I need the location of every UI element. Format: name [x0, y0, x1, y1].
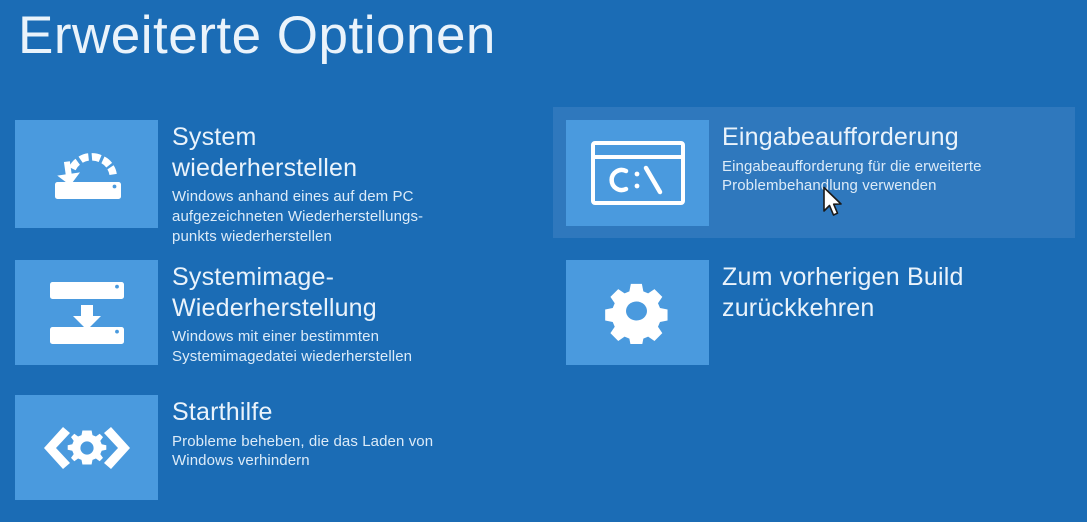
option-startup-repair-description: Probleme beheben, die das Laden von Wind… [172, 432, 535, 472]
option-startup-repair-text: Starthilfe Probleme beheben, die das Lad… [172, 395, 535, 471]
gear-icon [605, 282, 671, 344]
option-previous-build[interactable]: Zum vorherigen Build zurückkehren [566, 260, 1076, 365]
option-system-restore-description: Windows anhand eines auf dem PC aufgezei… [172, 187, 535, 247]
system-restore-drive-icon [39, 143, 135, 205]
advanced-options-screen: Erweiterte Optionen [0, 0, 1087, 522]
command-prompt-icon-tile [566, 120, 709, 226]
option-previous-build-title: Zum vorherigen Build zurückkehren [722, 262, 1076, 323]
system-image-recovery-icon [46, 280, 128, 346]
option-system-image-recovery[interactable]: Systemimage- Wiederherstellung Windows m… [15, 260, 535, 367]
startup-repair-icon-tile [15, 395, 158, 500]
system-restore-icon-tile [15, 120, 158, 228]
option-system-restore[interactable]: System wiederherstellen Windows anhand e… [15, 120, 535, 247]
option-startup-repair[interactable]: Starthilfe Probleme beheben, die das Lad… [15, 395, 535, 500]
option-command-prompt-title: Eingabeaufforderung [722, 122, 1076, 153]
option-system-restore-text: System wiederherstellen Windows anhand e… [172, 120, 535, 247]
option-startup-repair-title: Starthilfe [172, 397, 535, 428]
startup-repair-gear-brackets-icon [41, 423, 133, 473]
command-prompt-icon [590, 140, 686, 206]
option-command-prompt-description: Eingabeaufforderung für die erweiterte P… [722, 157, 1076, 197]
system-image-icon-tile [15, 260, 158, 365]
option-system-restore-title: System wiederherstellen [172, 122, 535, 183]
previous-build-icon-tile [566, 260, 709, 365]
option-previous-build-text: Zum vorherigen Build zurückkehren [722, 260, 1076, 323]
option-system-image-title: Systemimage- Wiederherstellung [172, 262, 535, 323]
option-system-image-text: Systemimage- Wiederherstellung Windows m… [172, 260, 535, 367]
option-system-image-description: Windows mit einer bestimmten Systemimage… [172, 327, 535, 367]
option-command-prompt[interactable]: Eingabeaufforderung Eingabeaufforderung … [566, 120, 1076, 226]
page-title: Erweiterte Optionen [18, 6, 496, 67]
option-command-prompt-text: Eingabeaufforderung Eingabeaufforderung … [722, 120, 1076, 196]
